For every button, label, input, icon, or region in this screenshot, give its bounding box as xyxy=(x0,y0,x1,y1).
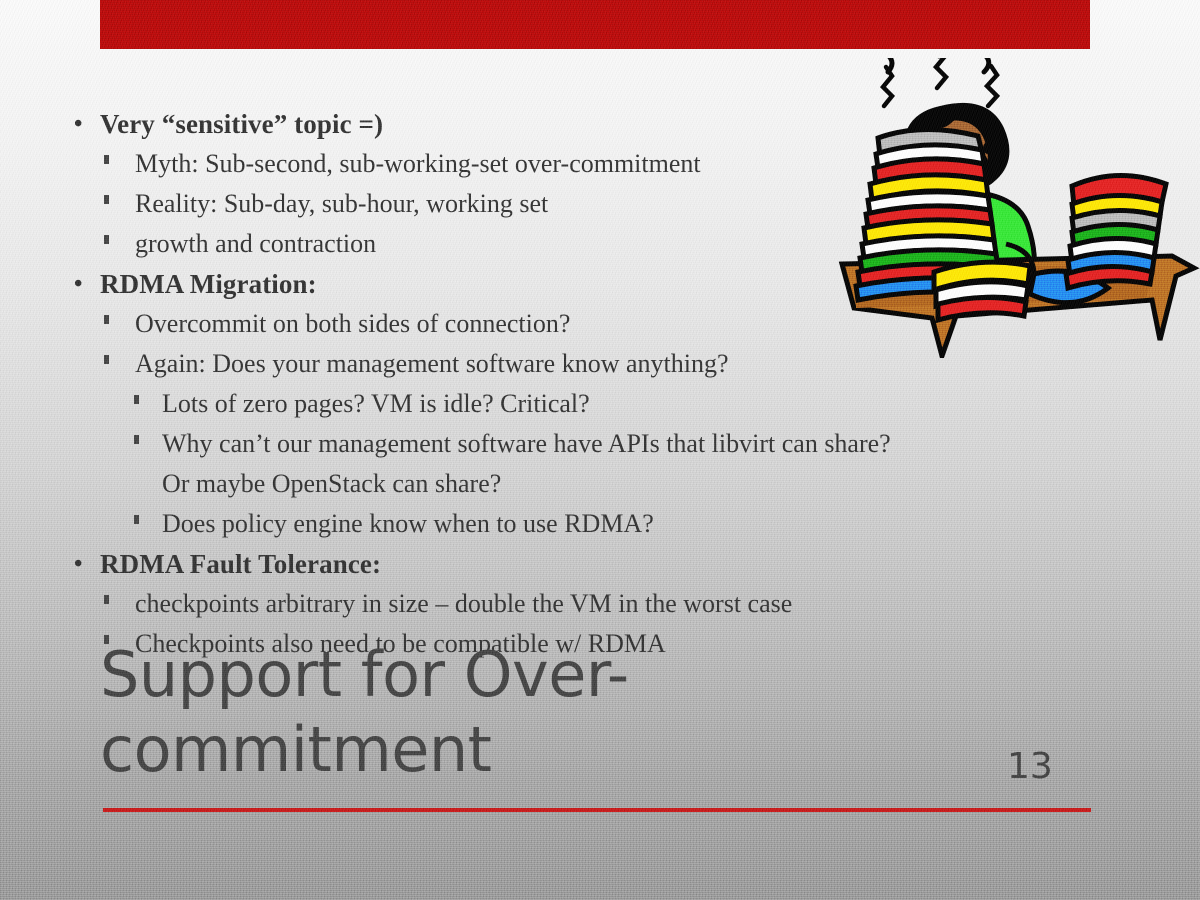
bullet-dot-icon: • xyxy=(74,264,83,304)
bullet-tick-icon xyxy=(104,155,109,164)
bullet-text: Does policy engine know when to use RDMA… xyxy=(162,509,654,538)
bullet-text: growth and contraction xyxy=(135,229,376,258)
presentation-slide: •Very “sensitive” topic =) Myth: Sub-sec… xyxy=(0,0,1200,900)
bullet-level2: growth and contraction xyxy=(62,224,1122,264)
bullet-tick-icon xyxy=(104,235,109,244)
bullet-tick-icon xyxy=(104,595,109,604)
bullet-text: Myth: Sub-second, sub-working-set over-c… xyxy=(135,149,701,178)
bullet-text: RDMA Fault Tolerance: xyxy=(100,549,381,579)
bullet-level1: •RDMA Fault Tolerance: xyxy=(62,544,1122,584)
bullet-text: Again: Does your management software kno… xyxy=(135,349,729,378)
bullet-text: Or maybe OpenStack can share? xyxy=(162,469,501,498)
bullet-tick-icon xyxy=(134,435,139,444)
top-red-banner xyxy=(100,0,1090,49)
bullet-text: Very “sensitive” topic =) xyxy=(100,109,383,139)
slide-title: Support for Over-commitment xyxy=(100,637,960,787)
bullet-level2: checkpoints arbitrary in size – double t… xyxy=(62,584,1122,624)
bullet-text: Overcommit on both sides of connection? xyxy=(135,309,570,338)
bottom-red-rule xyxy=(103,808,1091,812)
slide-body-bullets: •Very “sensitive” topic =) Myth: Sub-sec… xyxy=(62,104,1122,664)
bullet-level1: •Very “sensitive” topic =) xyxy=(62,104,1122,144)
bullet-text: checkpoints arbitrary in size – double t… xyxy=(135,589,792,618)
bullet-level3: Why can’t our management software have A… xyxy=(62,424,1122,464)
bullet-dot-icon: • xyxy=(74,544,83,584)
bullet-tick-icon xyxy=(134,395,139,404)
bullet-text: RDMA Migration: xyxy=(100,269,317,299)
bullet-text: Lots of zero pages? VM is idle? Critical… xyxy=(162,389,590,418)
bullet-level1: •RDMA Migration: xyxy=(62,264,1122,304)
bullet-level3: Lots of zero pages? VM is idle? Critical… xyxy=(62,384,1122,424)
bullet-level3-continuation: Or maybe OpenStack can share? xyxy=(62,464,1122,504)
bullet-tick-icon xyxy=(104,355,109,364)
bullet-level2: Again: Does your management software kno… xyxy=(62,344,1122,384)
bullet-tick-icon xyxy=(104,315,109,324)
bullet-level2: Myth: Sub-second, sub-working-set over-c… xyxy=(62,144,1122,184)
bullet-tick-icon xyxy=(104,195,109,204)
bullet-level2: Reality: Sub-day, sub-hour, working set xyxy=(62,184,1122,224)
bullet-level3: Does policy engine know when to use RDMA… xyxy=(62,504,1122,544)
page-number: 13 xyxy=(1007,746,1053,787)
bullet-tick-icon xyxy=(134,515,139,524)
bullet-level2: Overcommit on both sides of connection? xyxy=(62,304,1122,344)
bullet-text: Reality: Sub-day, sub-hour, working set xyxy=(135,189,548,218)
bullet-dot-icon: • xyxy=(74,104,83,144)
bullet-text: Why can’t our management software have A… xyxy=(162,429,891,458)
